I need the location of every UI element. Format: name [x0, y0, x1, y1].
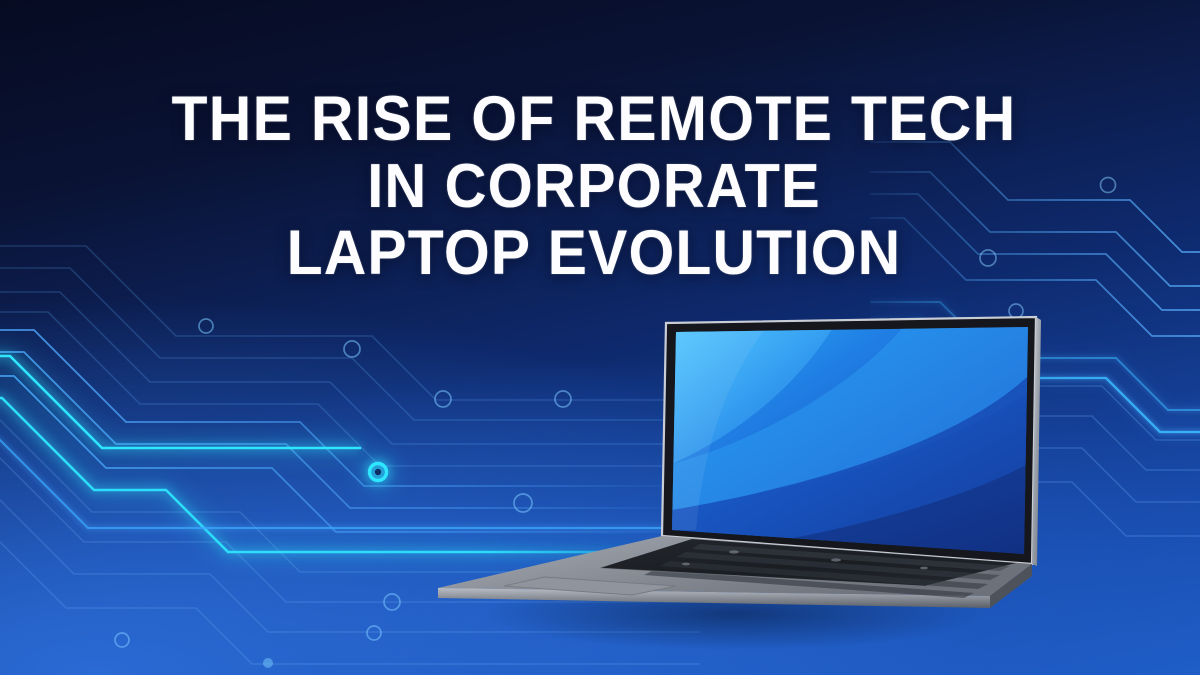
circuit-trace-highlight-right: [870, 302, 1200, 432]
laptop-base: [438, 536, 1032, 608]
headline-line-3: LAPTOP EVOLUTION: [39, 220, 1150, 287]
circuit-node: [983, 371, 998, 386]
laptop-illustration: [404, 296, 1044, 656]
poster-canvas: THE RISE OF REMOTE TECH IN CORPORATE LAP…: [0, 0, 1200, 675]
laptop-keyboard-keys: [644, 544, 1010, 598]
circuit-trace-group-faint-lower: [0, 420, 700, 664]
laptop-base-top: [438, 536, 1032, 596]
circuit-node: [367, 626, 381, 640]
laptop-screen: [672, 326, 1028, 568]
circuit-node: [435, 391, 451, 407]
circuit-node-terminal: [370, 464, 387, 481]
circuit-node: [199, 319, 213, 333]
circuit-node: [555, 391, 571, 407]
laptop-palmrest-seam: [600, 568, 924, 586]
laptop-lid-edge: [1032, 317, 1041, 566]
laptop-lid: [662, 317, 1041, 568]
laptop-base-right-edge: [990, 564, 1032, 608]
laptop-key-highlights: [682, 550, 928, 569]
circuit-trace-highlight-secondary: [0, 398, 700, 552]
circuit-node: [1009, 304, 1023, 318]
circuit-node: [514, 494, 532, 512]
circuit-trace-group-mid: [0, 330, 700, 532]
headline-line-2: IN CORPORATE: [39, 153, 1150, 220]
circuit-node-dot-group: [263, 658, 273, 668]
circuit-trace-highlight-primary: [0, 356, 360, 448]
laptop-base-front: [438, 588, 990, 608]
poster-headline: THE RISE OF REMOTE TECH IN CORPORATE LAP…: [0, 86, 1188, 287]
circuit-trace-group-right-lower: [870, 328, 1200, 536]
laptop-shadow: [484, 578, 984, 650]
laptop-keyboard: [600, 539, 1016, 586]
circuit-node-dot: [263, 658, 273, 668]
laptop-bezel: [662, 317, 1036, 564]
circuit-trace-highlight-tertiary: [0, 436, 700, 528]
circuit-node: [115, 633, 129, 647]
circuit-node: [384, 594, 400, 610]
screen-wallpaper: [672, 326, 1028, 568]
circuit-node-group: [115, 319, 571, 675]
circuit-node: [344, 341, 360, 357]
laptop-trackpad: [504, 577, 676, 595]
headline-line-1: THE RISE OF REMOTE TECH: [39, 86, 1150, 153]
